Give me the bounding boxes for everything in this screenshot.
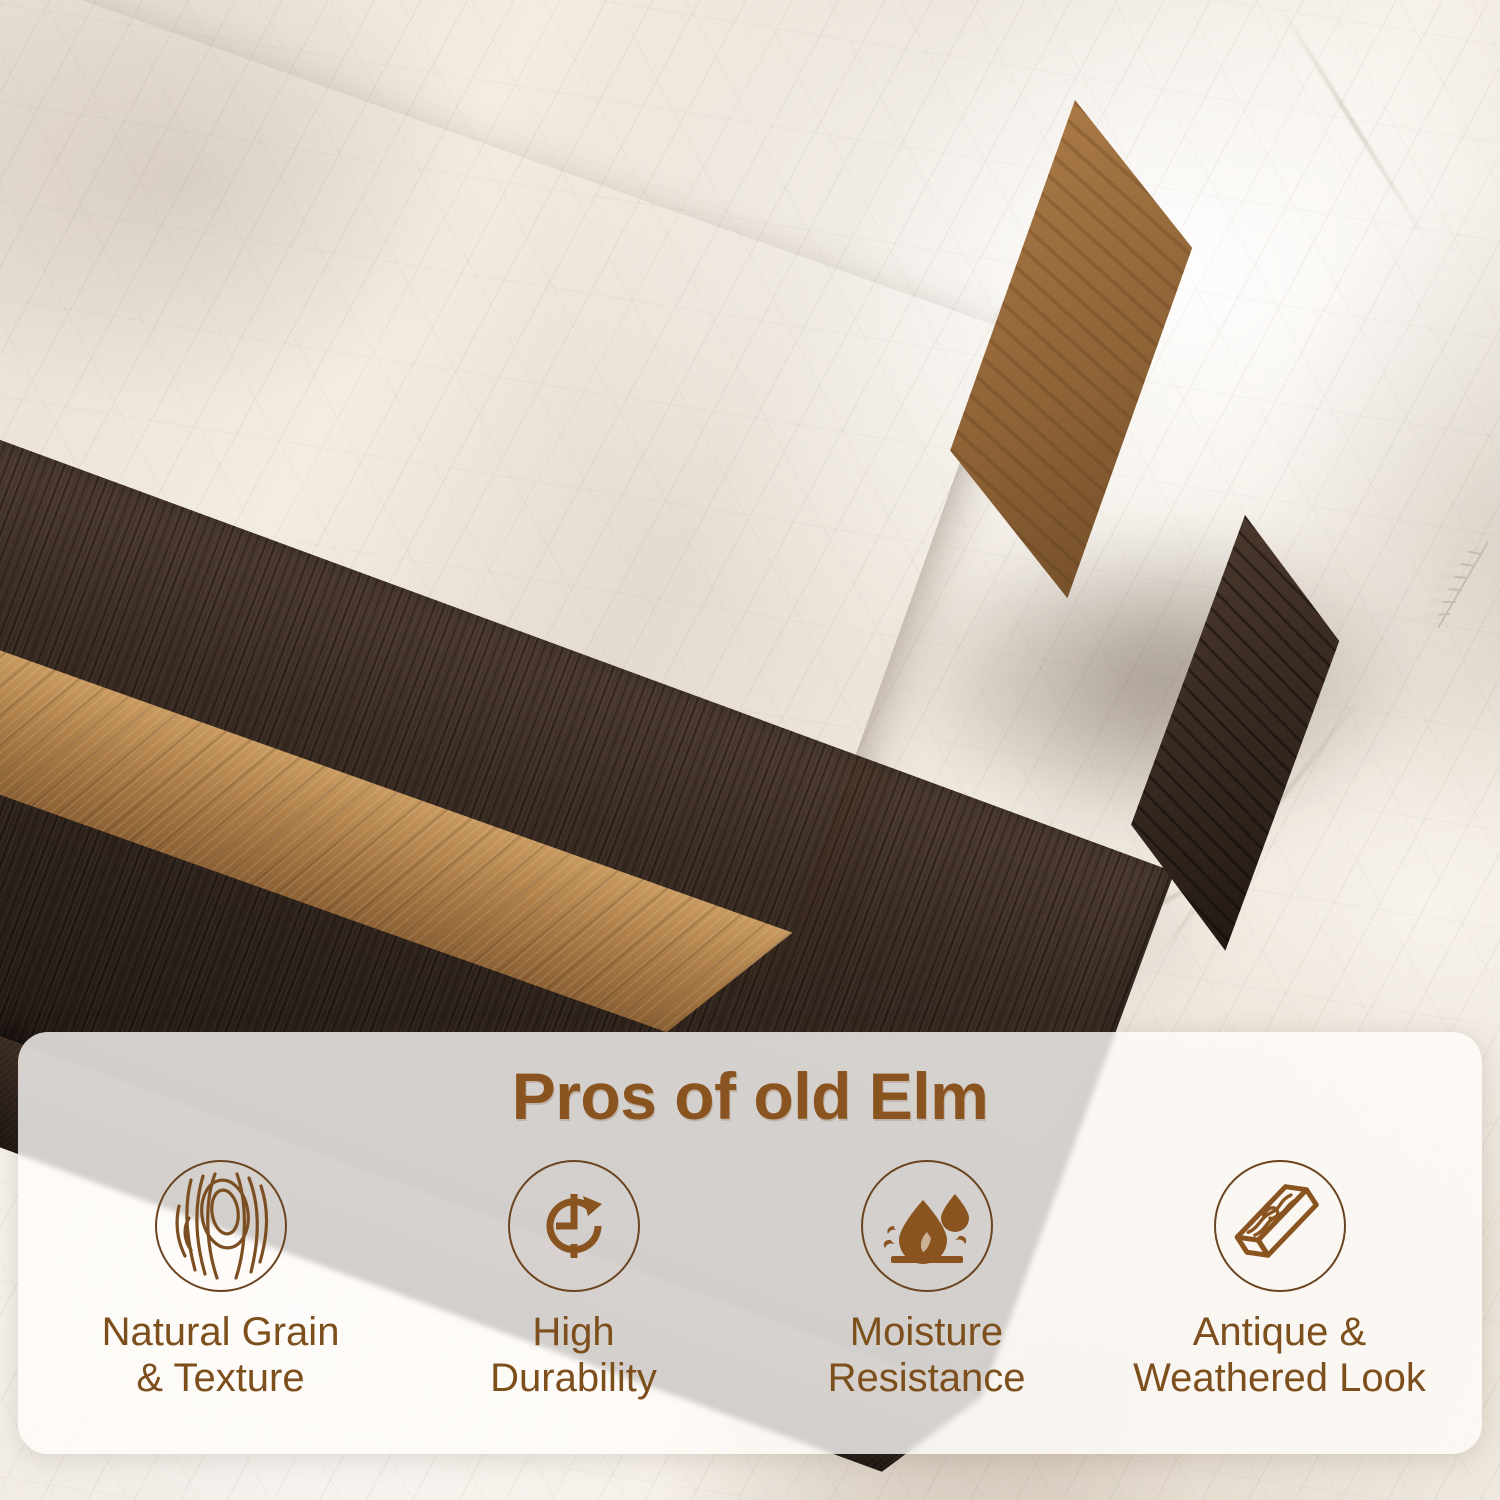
wood-plank-icon	[1214, 1160, 1346, 1292]
feature-label: High Durability	[490, 1310, 657, 1401]
water-droplet-icon	[861, 1160, 993, 1292]
wood-grain-icon	[155, 1160, 287, 1292]
feature-list: Natural Grain & Texture High Du	[18, 1160, 1482, 1401]
card-title: Pros of old Elm	[18, 1058, 1482, 1134]
feature-label: Antique & Weathered Look	[1133, 1310, 1426, 1401]
clock-refresh-icon	[508, 1160, 640, 1292]
dried-flower-sprig-icon	[1392, 536, 1500, 644]
product-marketing-image: Pros of old Elm	[0, 0, 1500, 1500]
feature-item-moisture-resistance[interactable]: Moisture Resistance	[750, 1160, 1103, 1401]
feature-item-high-durability[interactable]: High Durability	[397, 1160, 750, 1401]
feature-label: Moisture Resistance	[828, 1310, 1026, 1401]
feature-item-natural-grain[interactable]: Natural Grain & Texture	[44, 1160, 397, 1401]
feature-label: Natural Grain & Texture	[102, 1310, 340, 1401]
pros-info-card: Pros of old Elm	[18, 1032, 1482, 1454]
feature-item-antique-look[interactable]: Antique & Weathered Look	[1103, 1160, 1456, 1401]
